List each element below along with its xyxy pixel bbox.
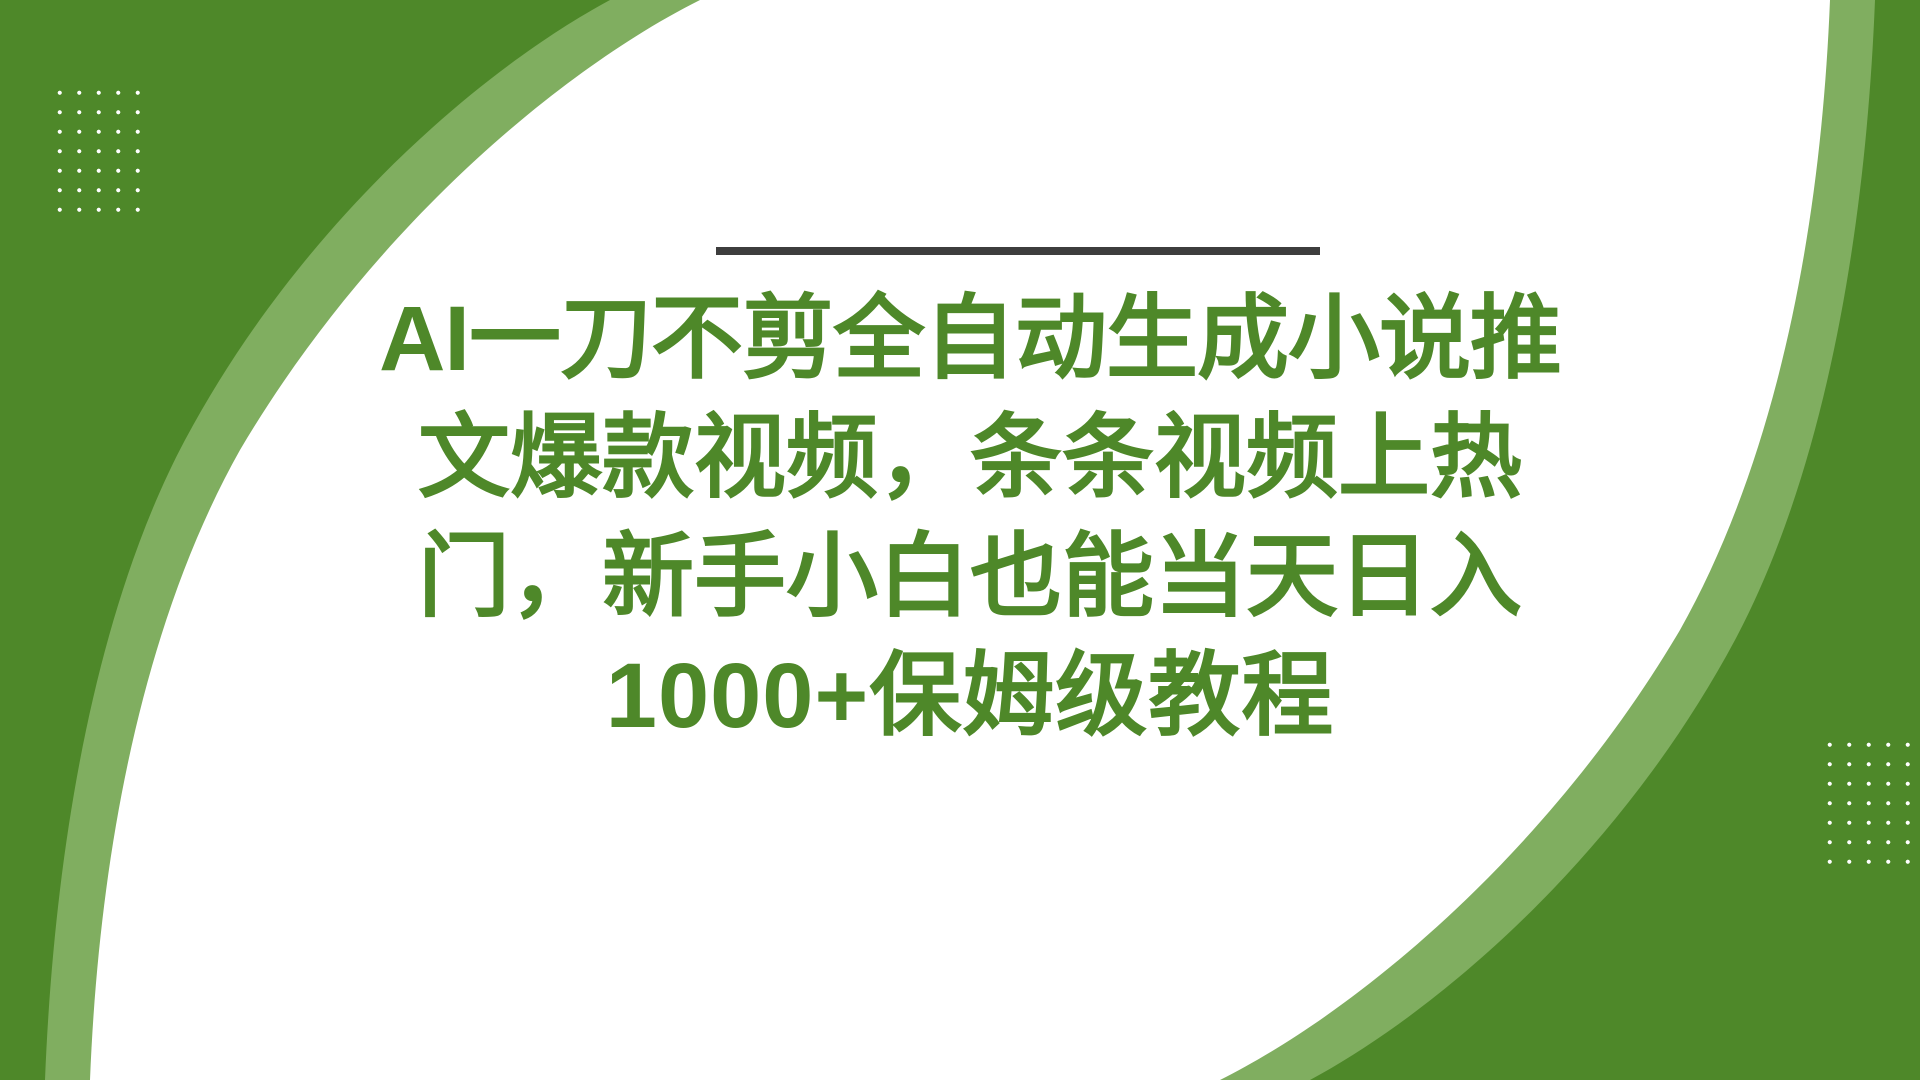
- poster-title: AI一刀不剪全自动生成小说推 文爆款视频，条条视频上热 门，新手小白也能当天日入…: [300, 280, 1640, 756]
- poster-canvas: AI一刀不剪全自动生成小说推 文爆款视频，条条视频上热 门，新手小白也能当天日入…: [0, 0, 1920, 1080]
- title-line-2: 文爆款视频，条条视频上热: [300, 399, 1640, 518]
- poster-content: AI一刀不剪全自动生成小说推 文爆款视频，条条视频上热 门，新手小白也能当天日入…: [0, 0, 1920, 1080]
- title-line-3: 门，新手小白也能当天日入: [300, 518, 1640, 637]
- title-line-1: AI一刀不剪全自动生成小说推: [300, 280, 1640, 399]
- title-divider: [716, 247, 1320, 255]
- title-line-4: 1000+保姆级教程: [300, 637, 1640, 756]
